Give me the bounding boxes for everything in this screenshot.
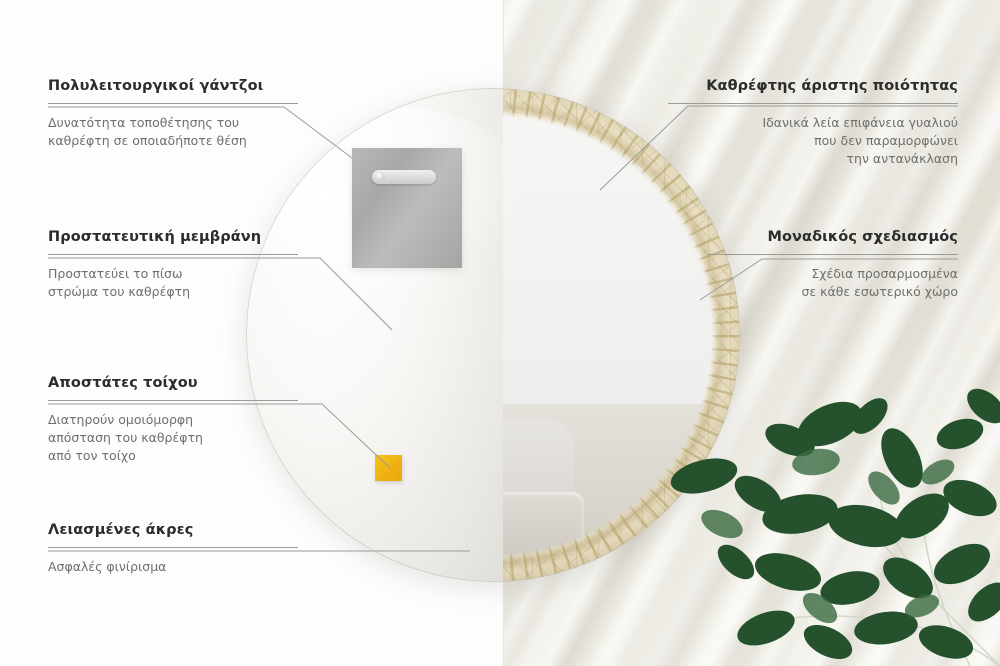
callout-edges: Λειασμένες άκρες Ασφαλές φινίρισμα xyxy=(48,522,298,576)
callout-edges-title: Λειασμένες άκρες xyxy=(48,522,298,538)
hook-hardware-closeup xyxy=(352,148,462,268)
callout-design-desc: Σχέδια προσαρμοσμένα σε κάθε εσωτερικό χ… xyxy=(708,265,958,301)
callout-design-rule xyxy=(708,254,958,255)
mirror-disc xyxy=(246,88,740,582)
callout-quality-title: Καθρέφτης άριστης ποιότητας xyxy=(668,78,958,94)
callout-spacers-desc: Διατηρούν ομοιόμορφη απόσταση του καθρέφ… xyxy=(48,411,298,465)
callout-membrane-desc: Προστατεύει το πίσω στρώμα του καθρέφτη xyxy=(48,265,298,301)
callout-edges-desc: Ασφαλές φινίρισμα xyxy=(48,558,298,576)
wall-spacer-closeup xyxy=(375,455,402,481)
hook-screw xyxy=(376,172,385,181)
callout-design: Μοναδικός σχεδιασμός Σχέδια προσαρμοσμέν… xyxy=(708,229,958,301)
callout-quality-desc: Ιδανικά λεία επιφάνεια γυαλιού που δεν π… xyxy=(668,114,958,168)
callout-design-title: Μοναδικός σχεδιασμός xyxy=(708,229,958,245)
callout-hooks-desc: Δυνατότητα τοποθέτησης του καθρέφτη σε ο… xyxy=(48,114,298,150)
callout-membrane: Προστατευτική μεμβράνη Προστατεύει το πί… xyxy=(48,229,298,301)
infographic-canvas: Πολυλειτουργικοί γάντζοι Δυνατότητα τοπο… xyxy=(0,0,1000,666)
callout-spacers-rule xyxy=(48,400,298,401)
callout-spacers: Αποστάτες τοίχου Διατηρούν ομοιόμορφη απ… xyxy=(48,375,298,465)
callout-quality: Καθρέφτης άριστης ποιότητας Ιδανικά λεία… xyxy=(668,78,958,168)
callout-edges-rule xyxy=(48,547,298,548)
green-foliage-decor xyxy=(670,366,1000,666)
callout-membrane-title: Προστατευτική μεμβράνη xyxy=(48,229,298,245)
round-mirror xyxy=(246,88,740,582)
callout-hooks: Πολυλειτουργικοί γάντζοι Δυνατότητα τοπο… xyxy=(48,78,298,150)
callout-hooks-rule xyxy=(48,103,298,104)
callout-spacers-title: Αποστάτες τοίχου xyxy=(48,375,298,391)
callout-quality-rule xyxy=(668,103,958,104)
callout-membrane-rule xyxy=(48,254,298,255)
callout-hooks-title: Πολυλειτουργικοί γάντζοι xyxy=(48,78,298,94)
